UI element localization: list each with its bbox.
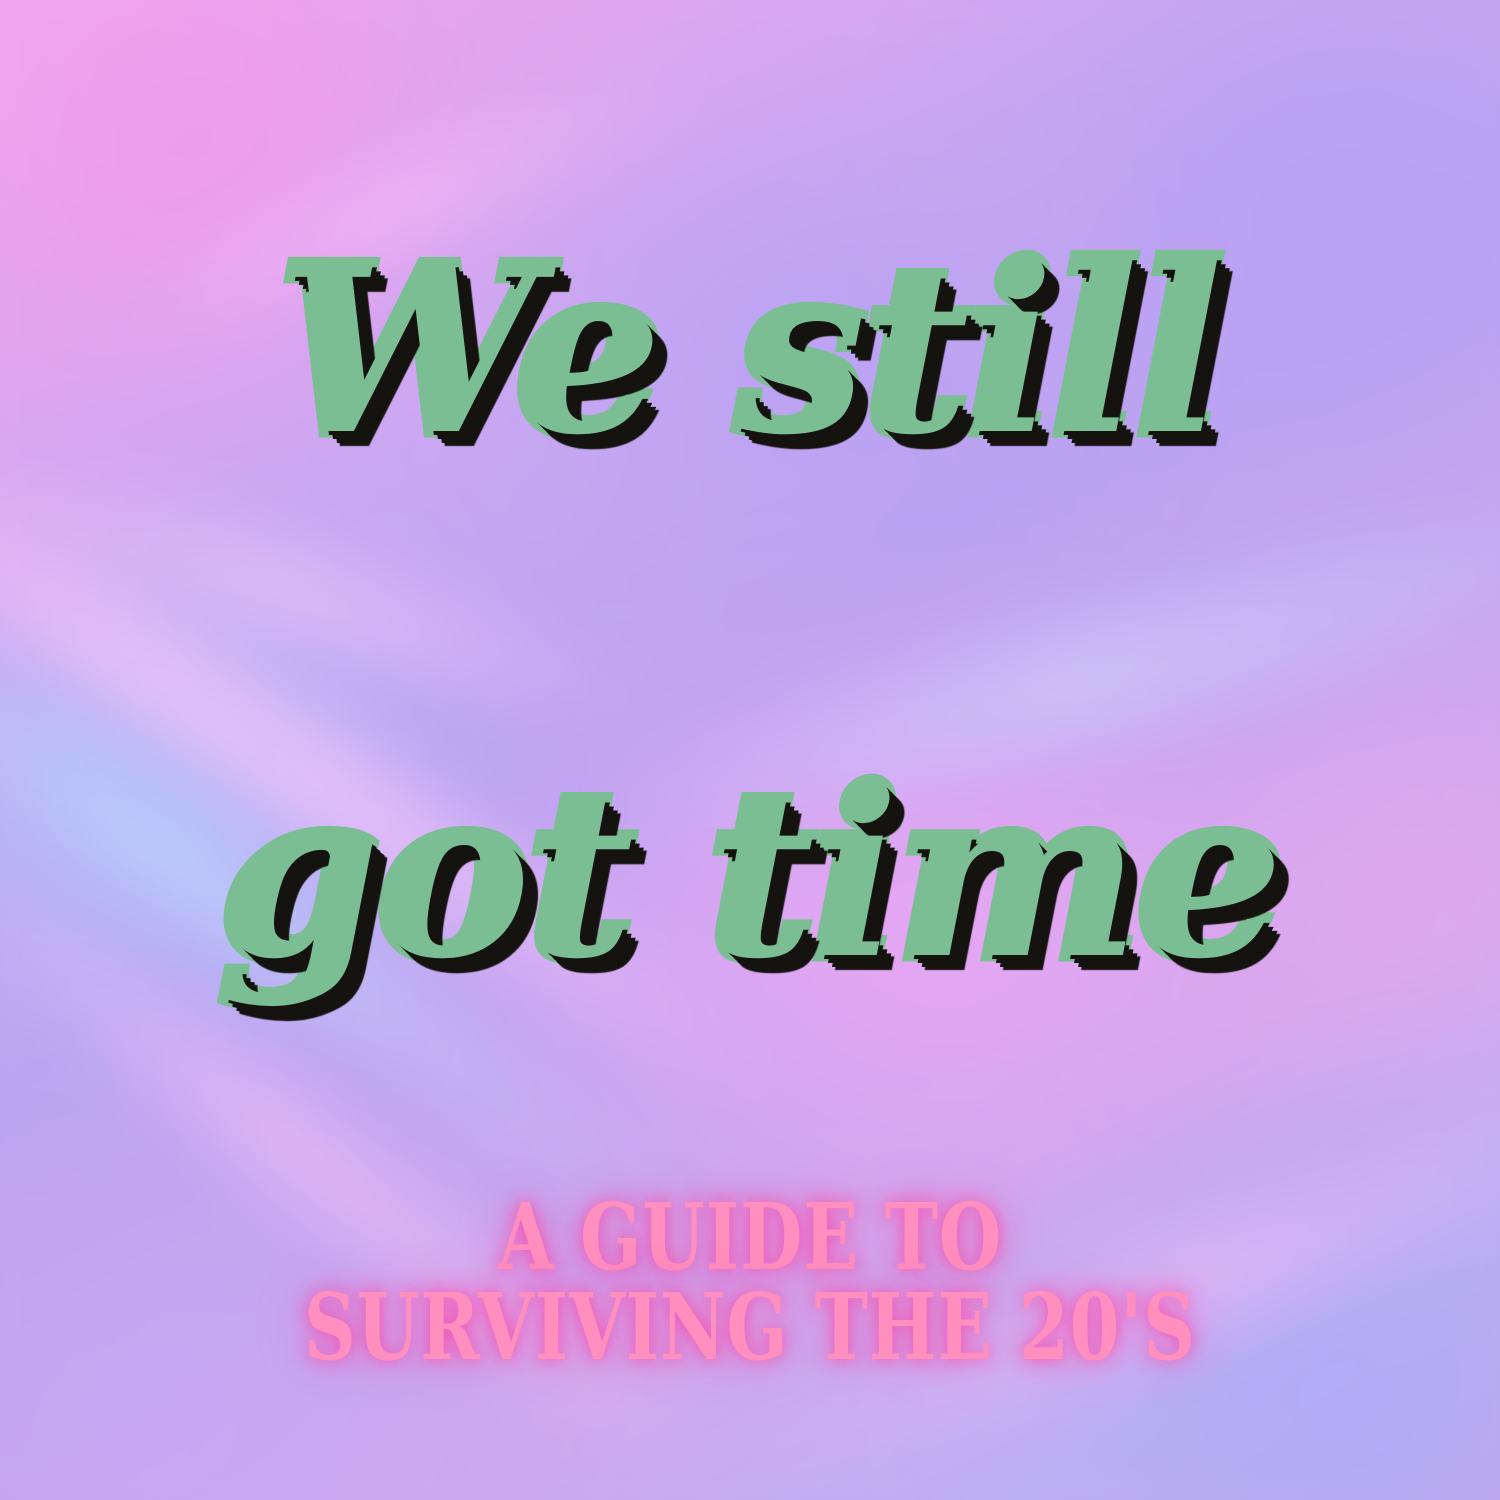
subtitle-line-1: A GUIDE TO <box>165 1192 1335 1282</box>
poster-canvas: We still got time A GUIDE TO SURVIVING T… <box>0 0 1500 1500</box>
headline-line-1: We still <box>0 236 1500 466</box>
headline-line-2: got time <box>0 760 1500 990</box>
subtitle-line-2: SURVIVING THE 20'S <box>165 1282 1335 1372</box>
subtitle-block: A GUIDE TO SURVIVING THE 20'S <box>165 1192 1335 1372</box>
